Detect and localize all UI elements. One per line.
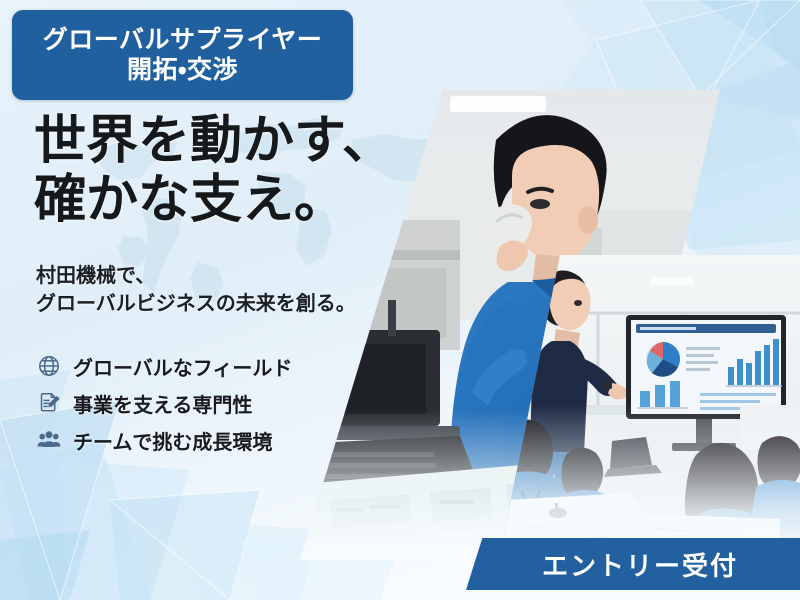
- globe-icon: [36, 354, 61, 379]
- headline-line-2: 確かな支え。: [34, 171, 454, 230]
- feature-item-global-field: グローバルなフィールド: [36, 352, 292, 380]
- document-pencil-icon: [36, 391, 61, 416]
- feature-item-team-growth: チームで挑む成長環境: [36, 426, 292, 454]
- feature-label: グローバルなフィールド: [73, 352, 292, 381]
- entry-cta-banner[interactable]: エントリー受付: [466, 538, 800, 590]
- feature-list: グローバルなフィールド 事業を支える専門性: [36, 352, 292, 454]
- cta-label: エントリー受付: [528, 546, 738, 583]
- subcopy-line-1: 村田機械で、: [36, 262, 436, 290]
- subcopy-line-2: グローバルビジネスの未来を創る。: [36, 290, 436, 318]
- recruitment-banner: グローバルサプライヤー 開拓・交渉 世界を動かす、 確かな支え。 村田機械で、 …: [0, 0, 800, 600]
- subcopy: 村田機械で、 グローバルビジネスの未来を創る。: [36, 262, 436, 319]
- headline-line-1: 世界を動かす、: [34, 112, 454, 171]
- feature-label: チームで挑む成長環境: [73, 426, 272, 455]
- category-badge: グローバルサプライヤー 開拓・交渉: [12, 10, 353, 100]
- badge-line-2: 開拓・交渉: [127, 55, 238, 86]
- headline: 世界を動かす、 確かな支え。: [34, 112, 454, 230]
- feature-label: 事業を支える専門性: [73, 389, 252, 418]
- badge-line-1: グローバルサプライヤー: [43, 25, 323, 56]
- photo-bottom-fade: [500, 405, 800, 555]
- people-group-icon: [36, 428, 61, 453]
- feature-item-expertise: 事業を支える専門性: [36, 389, 292, 417]
